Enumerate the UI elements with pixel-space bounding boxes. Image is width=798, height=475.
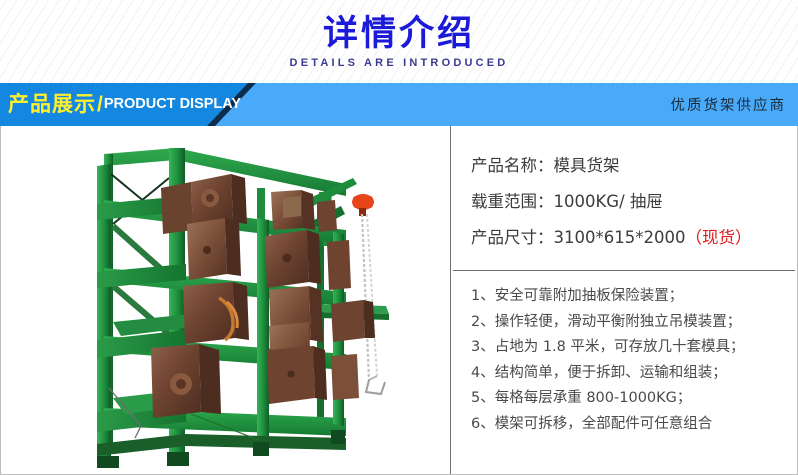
product-info-pane: 产品名称：模具货架 载重范围：1000KG/ 抽屉 产品尺寸：3100*615*… (450, 126, 797, 474)
section-bar-label-group: 产品展示 / PRODUCT DISPLAY (8, 83, 241, 126)
spec-row-size: 产品尺寸：3100*615*2000（现货） (471, 220, 787, 256)
list-item: 3、占地为 1.8 平米，可存放几十套模具； (471, 335, 789, 361)
section-bar: 产品展示 / PRODUCT DISPLAY 优质货架供应商 (0, 83, 798, 126)
spec-label-name: 产品名称： (471, 156, 554, 175)
stock-badge: （现货） (685, 228, 751, 247)
spec-row-load: 载重范围：1000KG/ 抽屉 (471, 184, 787, 220)
supplier-tagline: 优质货架供应商 (671, 83, 787, 126)
list-item: 1、安全可靠附加抽板保险装置； (471, 284, 789, 310)
header-text-group: 详情介绍 DETAILS ARE INTRODUCED (0, 0, 798, 70)
page-title: 详情介绍 (0, 0, 798, 54)
page-subtitle: DETAILS ARE INTRODUCED (0, 54, 798, 70)
page-header: 详情介绍 DETAILS ARE INTRODUCED (0, 0, 798, 83)
mold-rack-illustration (1, 126, 450, 474)
section-label-separator: / (96, 93, 104, 117)
spec-label-size: 产品尺寸： (471, 228, 554, 247)
section-label-en: PRODUCT DISPLAY (104, 83, 241, 126)
product-detail-page: 详情介绍 DETAILS ARE INTRODUCED 产品展示 / PRODU… (0, 0, 798, 475)
list-item: 5、每格每层承重 800-1000KG； (471, 386, 789, 412)
product-spec-block: 产品名称：模具货架 载重范围：1000KG/ 抽屉 产品尺寸：3100*615*… (451, 126, 797, 256)
product-photo-pane (1, 126, 450, 474)
spec-value-name: 模具货架 (554, 156, 620, 175)
spec-value-size: 3100*615*2000 (554, 228, 686, 247)
spec-row-name: 产品名称：模具货架 (471, 148, 787, 184)
feature-list: 1、安全可靠附加抽板保险装置； 2、操作轻便，滑动平衡附独立吊模装置； 3、占地… (451, 271, 797, 437)
section-label-cn: 产品展示 (8, 83, 96, 126)
list-item: 6、模架可拆移，全部配件可任意组合 (471, 412, 789, 438)
product-photo (1, 126, 450, 474)
list-item: 4、结构简单，便于拆卸、运输和组装； (471, 361, 789, 387)
spec-value-load: 1000KG/ 抽屉 (554, 192, 663, 211)
list-item: 2、操作轻便，滑动平衡附独立吊模装置； (471, 310, 789, 336)
content-area: 产品名称：模具货架 载重范围：1000KG/ 抽屉 产品尺寸：3100*615*… (0, 126, 798, 475)
spec-label-load: 载重范围： (471, 192, 554, 211)
